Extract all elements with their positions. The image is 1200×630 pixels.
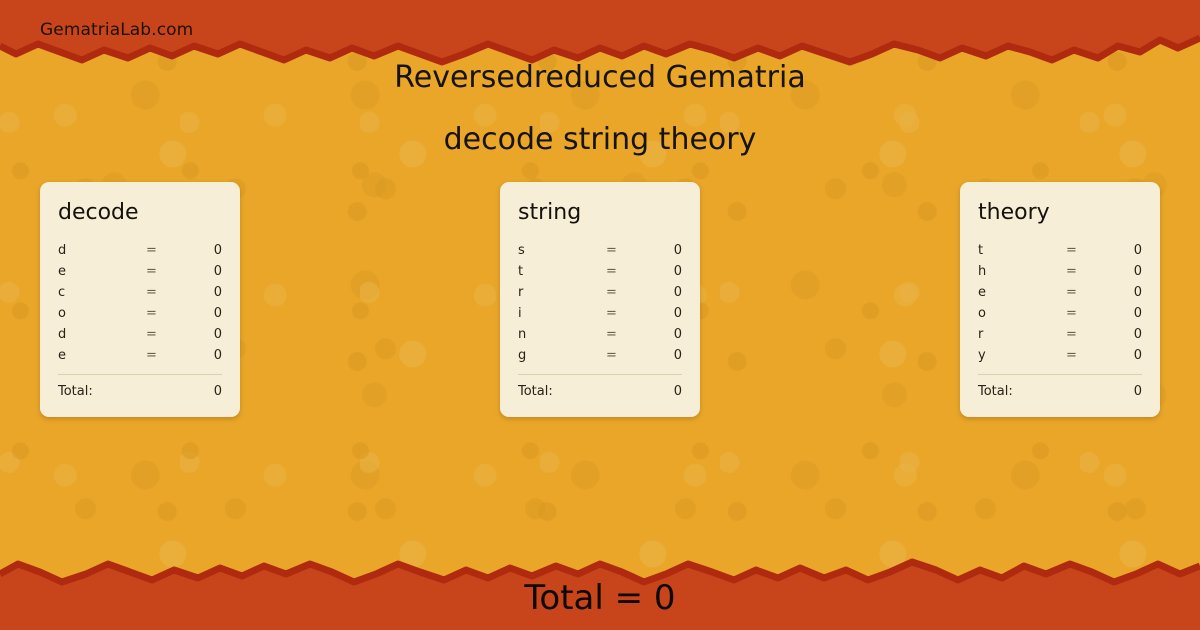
letter-value: 0 [633, 348, 682, 363]
word-card: decode d = 0 e = 0 c = 0 o [40, 182, 240, 417]
equals-sign: = [130, 327, 173, 342]
letter-value-list: s = 0 t = 0 r = 0 i = 0 [518, 240, 682, 366]
grand-total-label: Total = 0 [0, 578, 1200, 618]
card-total-label: Total: [518, 384, 674, 399]
equals-sign: = [590, 306, 633, 321]
equals-sign: = [130, 348, 173, 363]
letter-value: 0 [173, 285, 222, 300]
letter-glyph: s [518, 243, 590, 258]
letter-row: s = 0 [518, 240, 682, 261]
equals-sign: = [130, 243, 173, 258]
letter-value-list: d = 0 e = 0 c = 0 o = 0 [58, 240, 222, 366]
letter-glyph: t [518, 264, 590, 279]
letter-glyph: y [978, 348, 1050, 363]
letter-row: r = 0 [518, 282, 682, 303]
letter-glyph: o [58, 306, 130, 321]
letter-value-list: t = 0 h = 0 e = 0 o = 0 [978, 240, 1142, 366]
letter-row: g = 0 [518, 345, 682, 366]
letter-row: t = 0 [978, 240, 1142, 261]
card-total-value: 0 [214, 384, 222, 399]
letter-row: y = 0 [978, 345, 1142, 366]
word-card: string s = 0 t = 0 r = 0 i [500, 182, 700, 417]
letter-glyph: e [58, 264, 130, 279]
equals-sign: = [130, 264, 173, 279]
card-title: decode [58, 200, 222, 226]
equals-sign: = [1050, 243, 1093, 258]
equals-sign: = [1050, 285, 1093, 300]
letter-glyph: n [518, 327, 590, 342]
equals-sign: = [590, 348, 633, 363]
letter-row: i = 0 [518, 303, 682, 324]
letter-value: 0 [633, 327, 682, 342]
letter-row: e = 0 [978, 282, 1142, 303]
equals-sign: = [1050, 327, 1093, 342]
letter-row: e = 0 [58, 345, 222, 366]
letter-value: 0 [1093, 285, 1142, 300]
card-total-row: Total: 0 [58, 381, 222, 401]
letter-glyph: t [978, 243, 1050, 258]
letter-row: d = 0 [58, 240, 222, 261]
letter-glyph: d [58, 243, 130, 258]
letter-glyph: r [978, 327, 1050, 342]
letter-value: 0 [1093, 327, 1142, 342]
letter-value: 0 [1093, 264, 1142, 279]
letter-row: e = 0 [58, 261, 222, 282]
letter-value: 0 [633, 264, 682, 279]
equals-sign: = [590, 285, 633, 300]
letter-row: c = 0 [58, 282, 222, 303]
letter-value: 0 [633, 285, 682, 300]
card-separator [58, 374, 222, 375]
equals-sign: = [1050, 348, 1093, 363]
word-cards-row: decode d = 0 e = 0 c = 0 o [40, 182, 1160, 417]
card-total-value: 0 [1134, 384, 1142, 399]
card-total-value: 0 [674, 384, 682, 399]
card-title: theory [978, 200, 1142, 226]
equals-sign: = [1050, 306, 1093, 321]
letter-value: 0 [1093, 243, 1142, 258]
letter-value: 0 [633, 306, 682, 321]
letter-glyph: o [978, 306, 1050, 321]
word-card: theory t = 0 h = 0 e = 0 o [960, 182, 1160, 417]
top-torn-band [0, 0, 1200, 90]
letter-glyph: r [518, 285, 590, 300]
equals-sign: = [130, 306, 173, 321]
card-title: string [518, 200, 682, 226]
card-separator [978, 374, 1142, 375]
card-separator [518, 374, 682, 375]
letter-glyph: e [978, 285, 1050, 300]
letter-row: r = 0 [978, 324, 1142, 345]
letter-row: d = 0 [58, 324, 222, 345]
gematria-poster: GematriaLab.com Reversedreduced Gematria… [0, 0, 1200, 630]
letter-value: 0 [1093, 306, 1142, 321]
letter-glyph: g [518, 348, 590, 363]
letter-glyph: d [58, 327, 130, 342]
letter-value: 0 [173, 327, 222, 342]
equals-sign: = [590, 327, 633, 342]
letter-glyph: h [978, 264, 1050, 279]
site-logo[interactable]: GematriaLab.com [40, 20, 193, 40]
letter-glyph: c [58, 285, 130, 300]
card-total-row: Total: 0 [518, 381, 682, 401]
equals-sign: = [590, 264, 633, 279]
letter-glyph: e [58, 348, 130, 363]
card-total-row: Total: 0 [978, 381, 1142, 401]
top-band-shape [0, 0, 1200, 90]
equals-sign: = [1050, 264, 1093, 279]
card-total-label: Total: [58, 384, 214, 399]
letter-row: o = 0 [58, 303, 222, 324]
letter-row: h = 0 [978, 261, 1142, 282]
letter-value: 0 [173, 348, 222, 363]
letter-value: 0 [173, 264, 222, 279]
letter-row: t = 0 [518, 261, 682, 282]
card-total-label: Total: [978, 384, 1134, 399]
letter-value: 0 [173, 243, 222, 258]
page-subtitle: decode string theory [0, 120, 1200, 160]
letter-value: 0 [633, 243, 682, 258]
letter-row: o = 0 [978, 303, 1142, 324]
equals-sign: = [130, 285, 173, 300]
letter-value: 0 [173, 306, 222, 321]
letter-value: 0 [1093, 348, 1142, 363]
equals-sign: = [590, 243, 633, 258]
letter-row: n = 0 [518, 324, 682, 345]
letter-glyph: i [518, 306, 590, 321]
